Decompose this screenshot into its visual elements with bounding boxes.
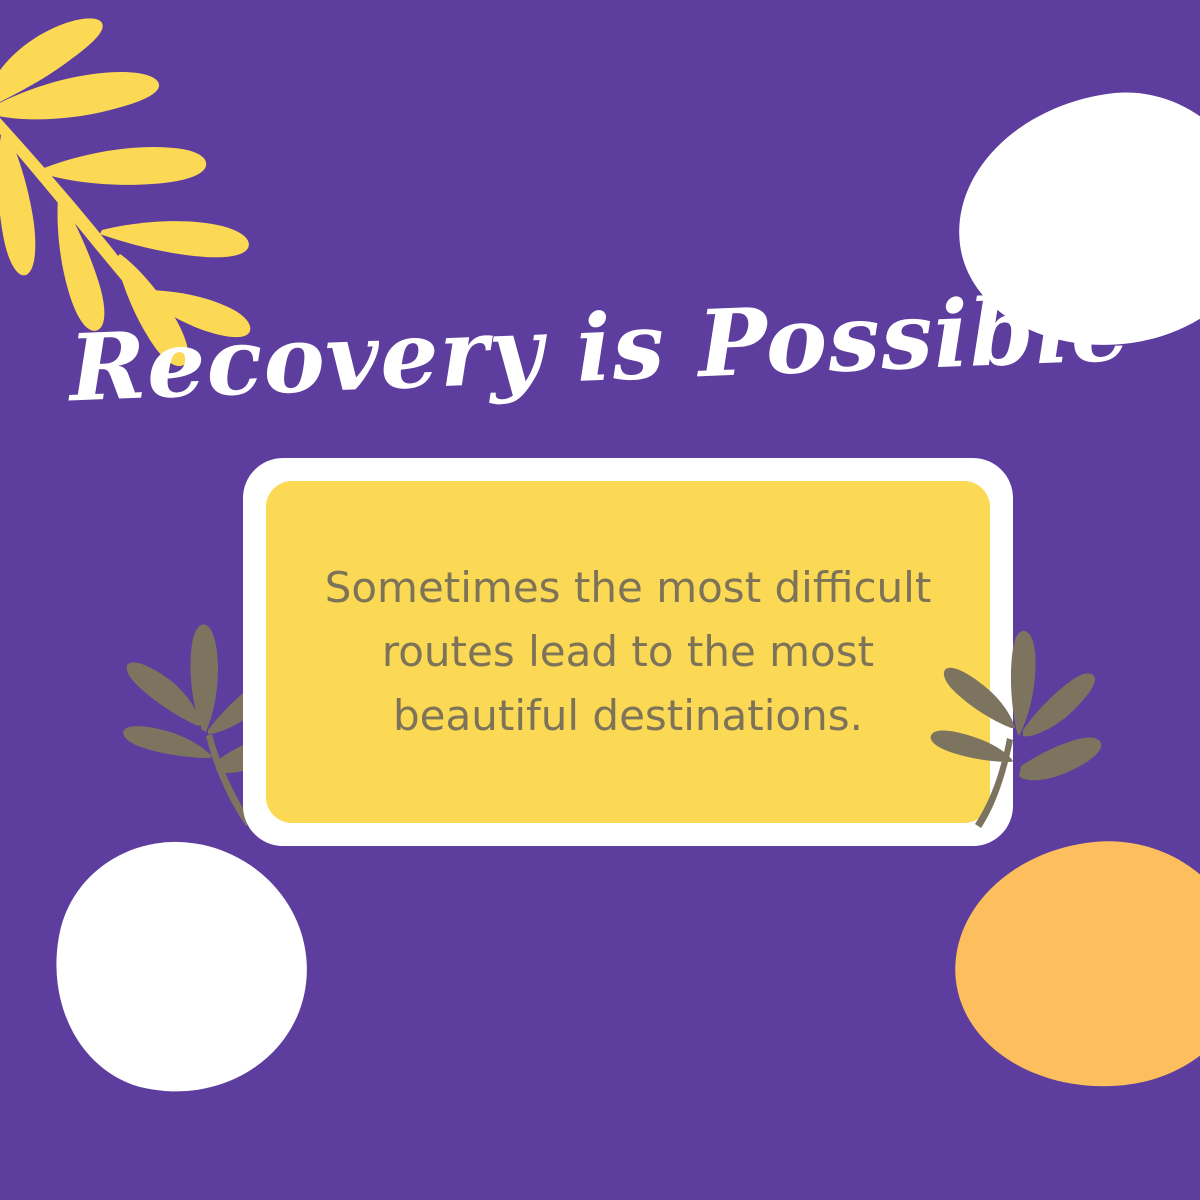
leaf-branch-icon-right <box>925 628 1115 843</box>
quote-card: Sometimes the most difficult routes lead… <box>243 458 1013 846</box>
poster-title: Recovery is Possible <box>0 300 1200 397</box>
quote-poster: Recovery is Possible Sometimes the most … <box>0 0 1200 1200</box>
quote-text: Sometimes the most difficult routes lead… <box>266 556 990 747</box>
poster-title-text: Recovery is Possible <box>68 280 1132 417</box>
white-blob-bottom-left <box>32 820 330 1117</box>
quote-card-inner: Sometimes the most difficult routes lead… <box>266 481 990 823</box>
orange-blob-bottom-right <box>943 828 1200 1102</box>
